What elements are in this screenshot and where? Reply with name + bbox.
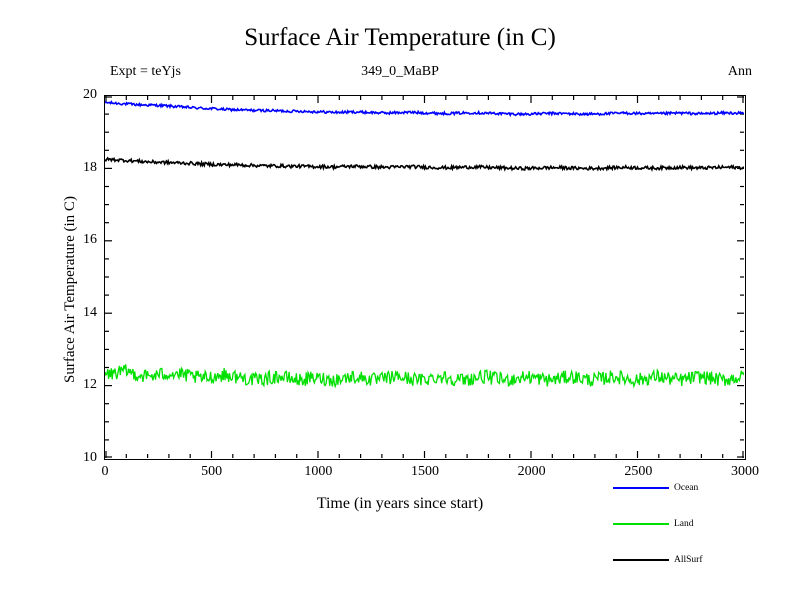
y-axis-label: Surface Air Temperature (in C) (62, 196, 79, 383)
y-tick-label: 14 (57, 305, 97, 321)
chart-page: Surface Air Temperature (in C) Expt = te… (0, 0, 800, 600)
series-line-ocean (105, 101, 744, 115)
x-tick-label: 0 (75, 464, 135, 480)
legend-item-land: Land (613, 519, 694, 529)
x-axis-label: Time (in years since start) (0, 495, 800, 513)
y-tick-label: 10 (57, 450, 97, 466)
y-tick-label: 16 (57, 232, 97, 248)
legend-item-allsurf: AllSurf (613, 555, 703, 565)
legend-label-allsurf: AllSurf (674, 555, 703, 565)
x-tick-label: 3000 (715, 464, 775, 480)
header-run-label: 349_0_MaBP (0, 64, 800, 80)
x-tick-label: 1000 (288, 464, 348, 480)
legend-swatch-land (613, 523, 669, 525)
legend-label-land: Land (674, 519, 694, 529)
x-tick-label: 1500 (395, 464, 455, 480)
series-line-land (105, 364, 744, 386)
legend-label-ocean: Ocean (674, 483, 698, 493)
y-tick-label: 20 (57, 87, 97, 103)
y-tick-label: 12 (57, 377, 97, 393)
y-tick-label: 18 (57, 160, 97, 176)
chart-title: Surface Air Temperature (in C) (0, 24, 800, 52)
series-line-allsurf (105, 158, 744, 170)
header-period-label: Ann (728, 64, 752, 80)
legend-swatch-allsurf (613, 559, 669, 561)
x-tick-label: 2000 (502, 464, 562, 480)
x-tick-label: 2500 (608, 464, 668, 480)
legend-item-ocean: Ocean (613, 483, 698, 493)
plot-canvas (105, 96, 744, 458)
plot-area (104, 95, 746, 460)
legend-swatch-ocean (613, 487, 669, 489)
x-tick-label: 500 (182, 464, 242, 480)
